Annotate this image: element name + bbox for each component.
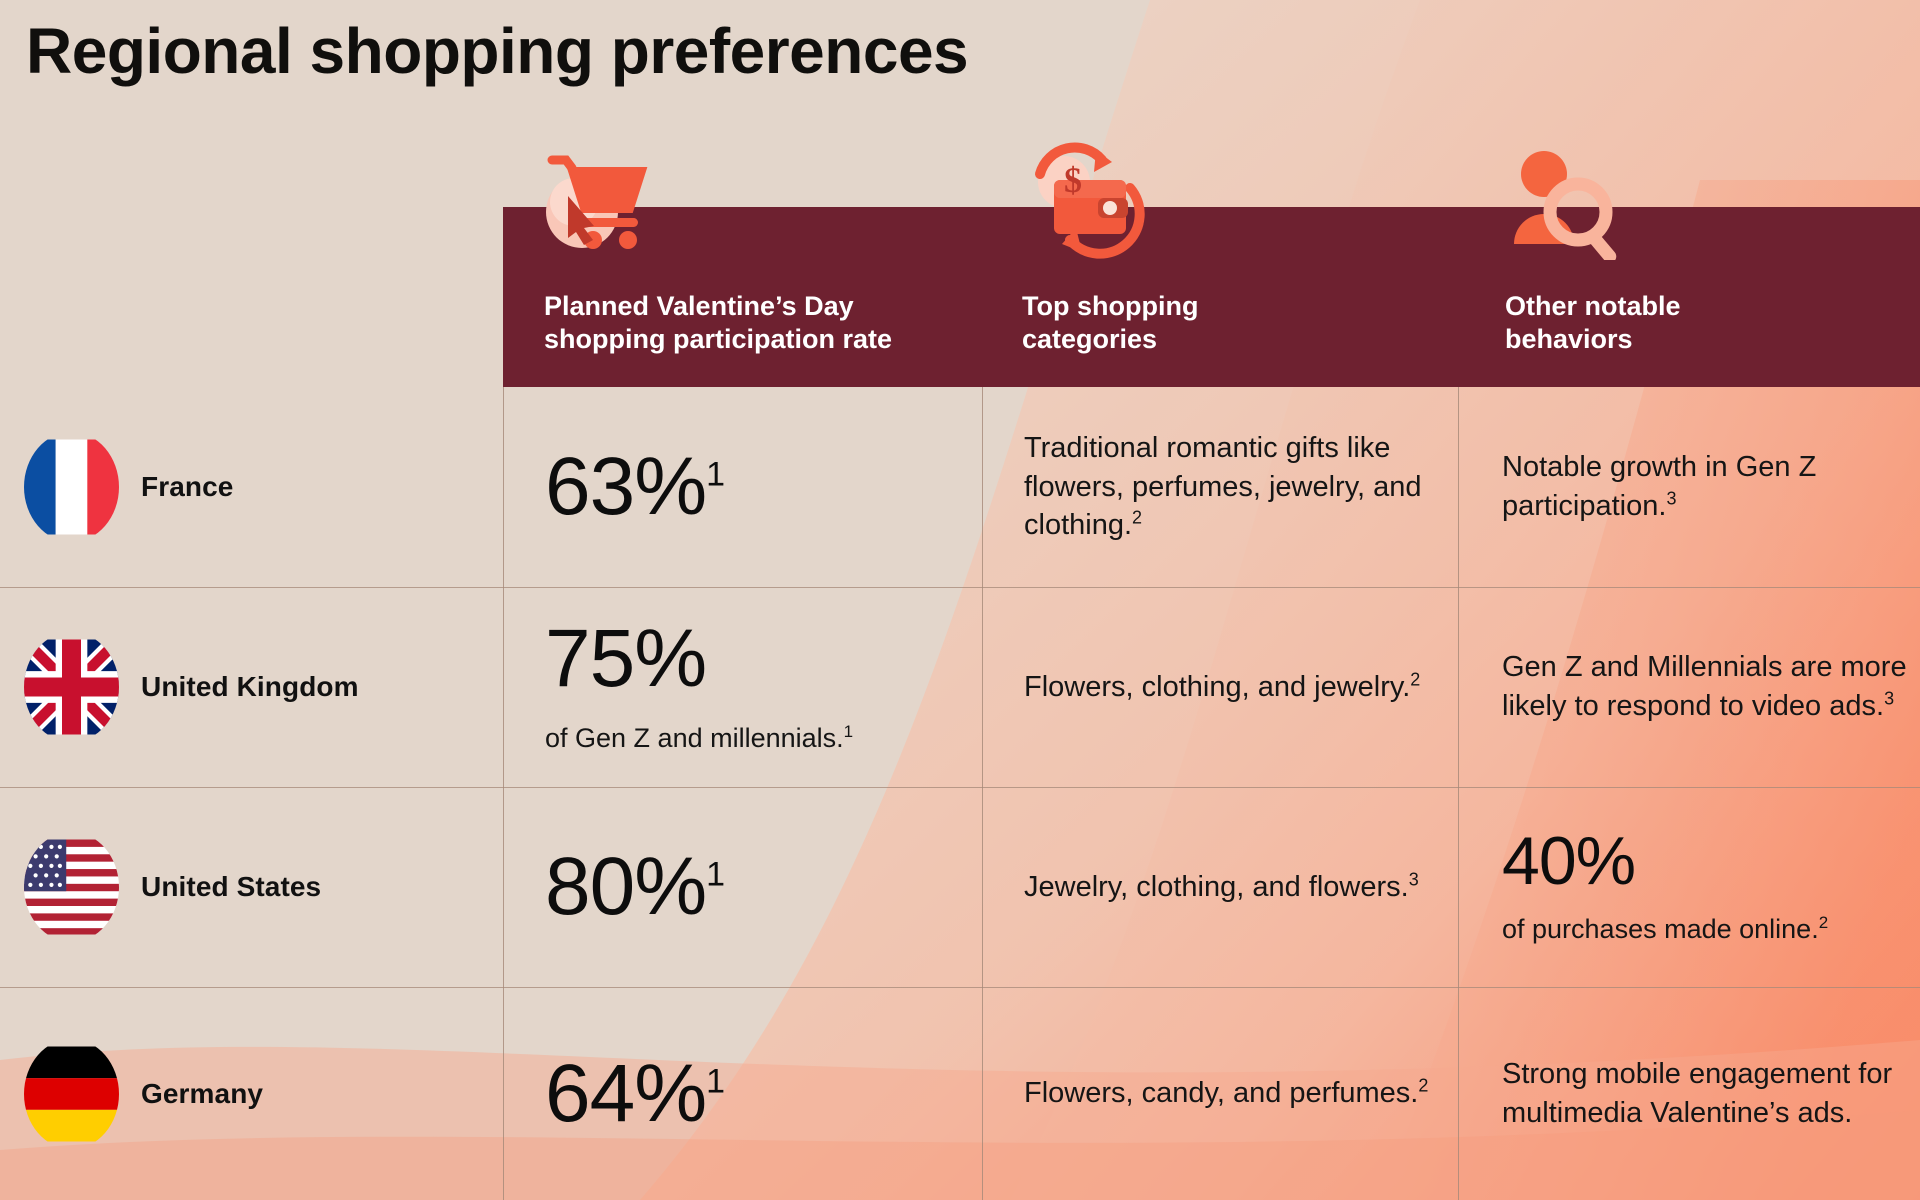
rate-value: 80%1	[545, 846, 982, 928]
behaviors-text: Notable growth in Gen Z participation.3	[1502, 448, 1920, 525]
top-categories-cell: Flowers, candy, and perfumes.2	[982, 987, 1458, 1200]
infographic-page: Regional shopping preferences $	[0, 0, 1920, 1200]
other-behaviors-cell: Strong mobile engagement for multimedia …	[1458, 987, 1920, 1200]
top-categories-cell: Traditional romantic gifts like flowers,…	[982, 387, 1458, 587]
other-behaviors-cell: Notable growth in Gen Z participation.3	[1458, 387, 1920, 587]
participation-rate-cell: 80%1	[503, 787, 982, 987]
categories-text: Jewelry, clothing, and flowers.3	[1024, 868, 1419, 907]
rate-value: 64%1	[545, 1053, 982, 1135]
table-row: United States 80%1 Jewelry, clothing, an…	[0, 787, 1920, 987]
table-row: France 63%1 Traditional romantic gifts l…	[0, 387, 1920, 587]
region-name: United States	[141, 871, 321, 903]
flag-united-states-icon	[24, 832, 119, 942]
shopping-cart-click-icon	[536, 140, 671, 260]
behaviors-stat-value: 40%	[1502, 827, 1920, 895]
column-header-categories-line2: categories	[1022, 323, 1322, 356]
flag-germany-icon	[24, 1039, 119, 1149]
region-cell: United Kingdom	[0, 587, 503, 787]
top-categories-cell: Jewelry, clothing, and flowers.3	[982, 787, 1458, 987]
rate-value: 75%	[545, 618, 982, 700]
categories-text: Flowers, clothing, and jewelry.2	[1024, 668, 1420, 707]
table-row: United Kingdom 75% of Gen Z and millenni…	[0, 587, 1920, 787]
region-cell: France	[0, 387, 503, 587]
behaviors-text: Strong mobile engagement for multimedia …	[1502, 1055, 1920, 1132]
column-header-rate-line2: shopping participation rate	[544, 323, 974, 356]
person-search-icon	[1500, 140, 1635, 260]
column-header-participation-rate: Planned Valentine’s Day shopping partici…	[544, 290, 974, 356]
participation-rate-cell: 64%1	[503, 987, 982, 1200]
rate-subtext: of Gen Z and millennials.1	[545, 722, 982, 756]
table-row: Germany 64%1 Flowers, candy, and perfume…	[0, 987, 1920, 1200]
categories-text: Flowers, candy, and perfumes.2	[1024, 1074, 1428, 1113]
participation-rate-cell: 75% of Gen Z and millennials.1	[503, 587, 982, 787]
participation-rate-cell: 63%1	[503, 387, 982, 587]
column-header-behaviors-line2: behaviors	[1505, 323, 1835, 356]
region-name: United Kingdom	[141, 671, 359, 703]
behaviors-stat-subtext: of purchases made online.2	[1502, 913, 1920, 947]
svg-text:$: $	[1064, 160, 1082, 200]
wallet-exchange-icon: $	[1020, 140, 1155, 260]
region-name: Germany	[141, 1078, 263, 1110]
column-header-rate-line1: Planned Valentine’s Day	[544, 290, 974, 323]
flag-france-icon	[24, 432, 119, 542]
region-cell: Germany	[0, 987, 503, 1200]
other-behaviors-cell: Gen Z and Millennials are more likely to…	[1458, 587, 1920, 787]
column-header-behaviors-line1: Other notable	[1505, 290, 1835, 323]
behaviors-text: Gen Z and Millennials are more likely to…	[1502, 648, 1920, 725]
categories-text: Traditional romantic gifts like flowers,…	[1024, 429, 1442, 545]
column-header-other-behaviors: Other notable behaviors	[1505, 290, 1835, 356]
column-header-top-categories: Top shopping categories	[1022, 290, 1322, 356]
other-behaviors-cell: 40% of purchases made online.2	[1458, 787, 1920, 987]
region-name: France	[141, 471, 233, 503]
rate-value: 63%1	[545, 446, 982, 528]
region-cell: United States	[0, 787, 503, 987]
column-header-categories-line1: Top shopping	[1022, 290, 1322, 323]
top-categories-cell: Flowers, clothing, and jewelry.2	[982, 587, 1458, 787]
flag-united-kingdom-icon	[24, 632, 119, 742]
page-title: Regional shopping preferences	[26, 18, 968, 85]
